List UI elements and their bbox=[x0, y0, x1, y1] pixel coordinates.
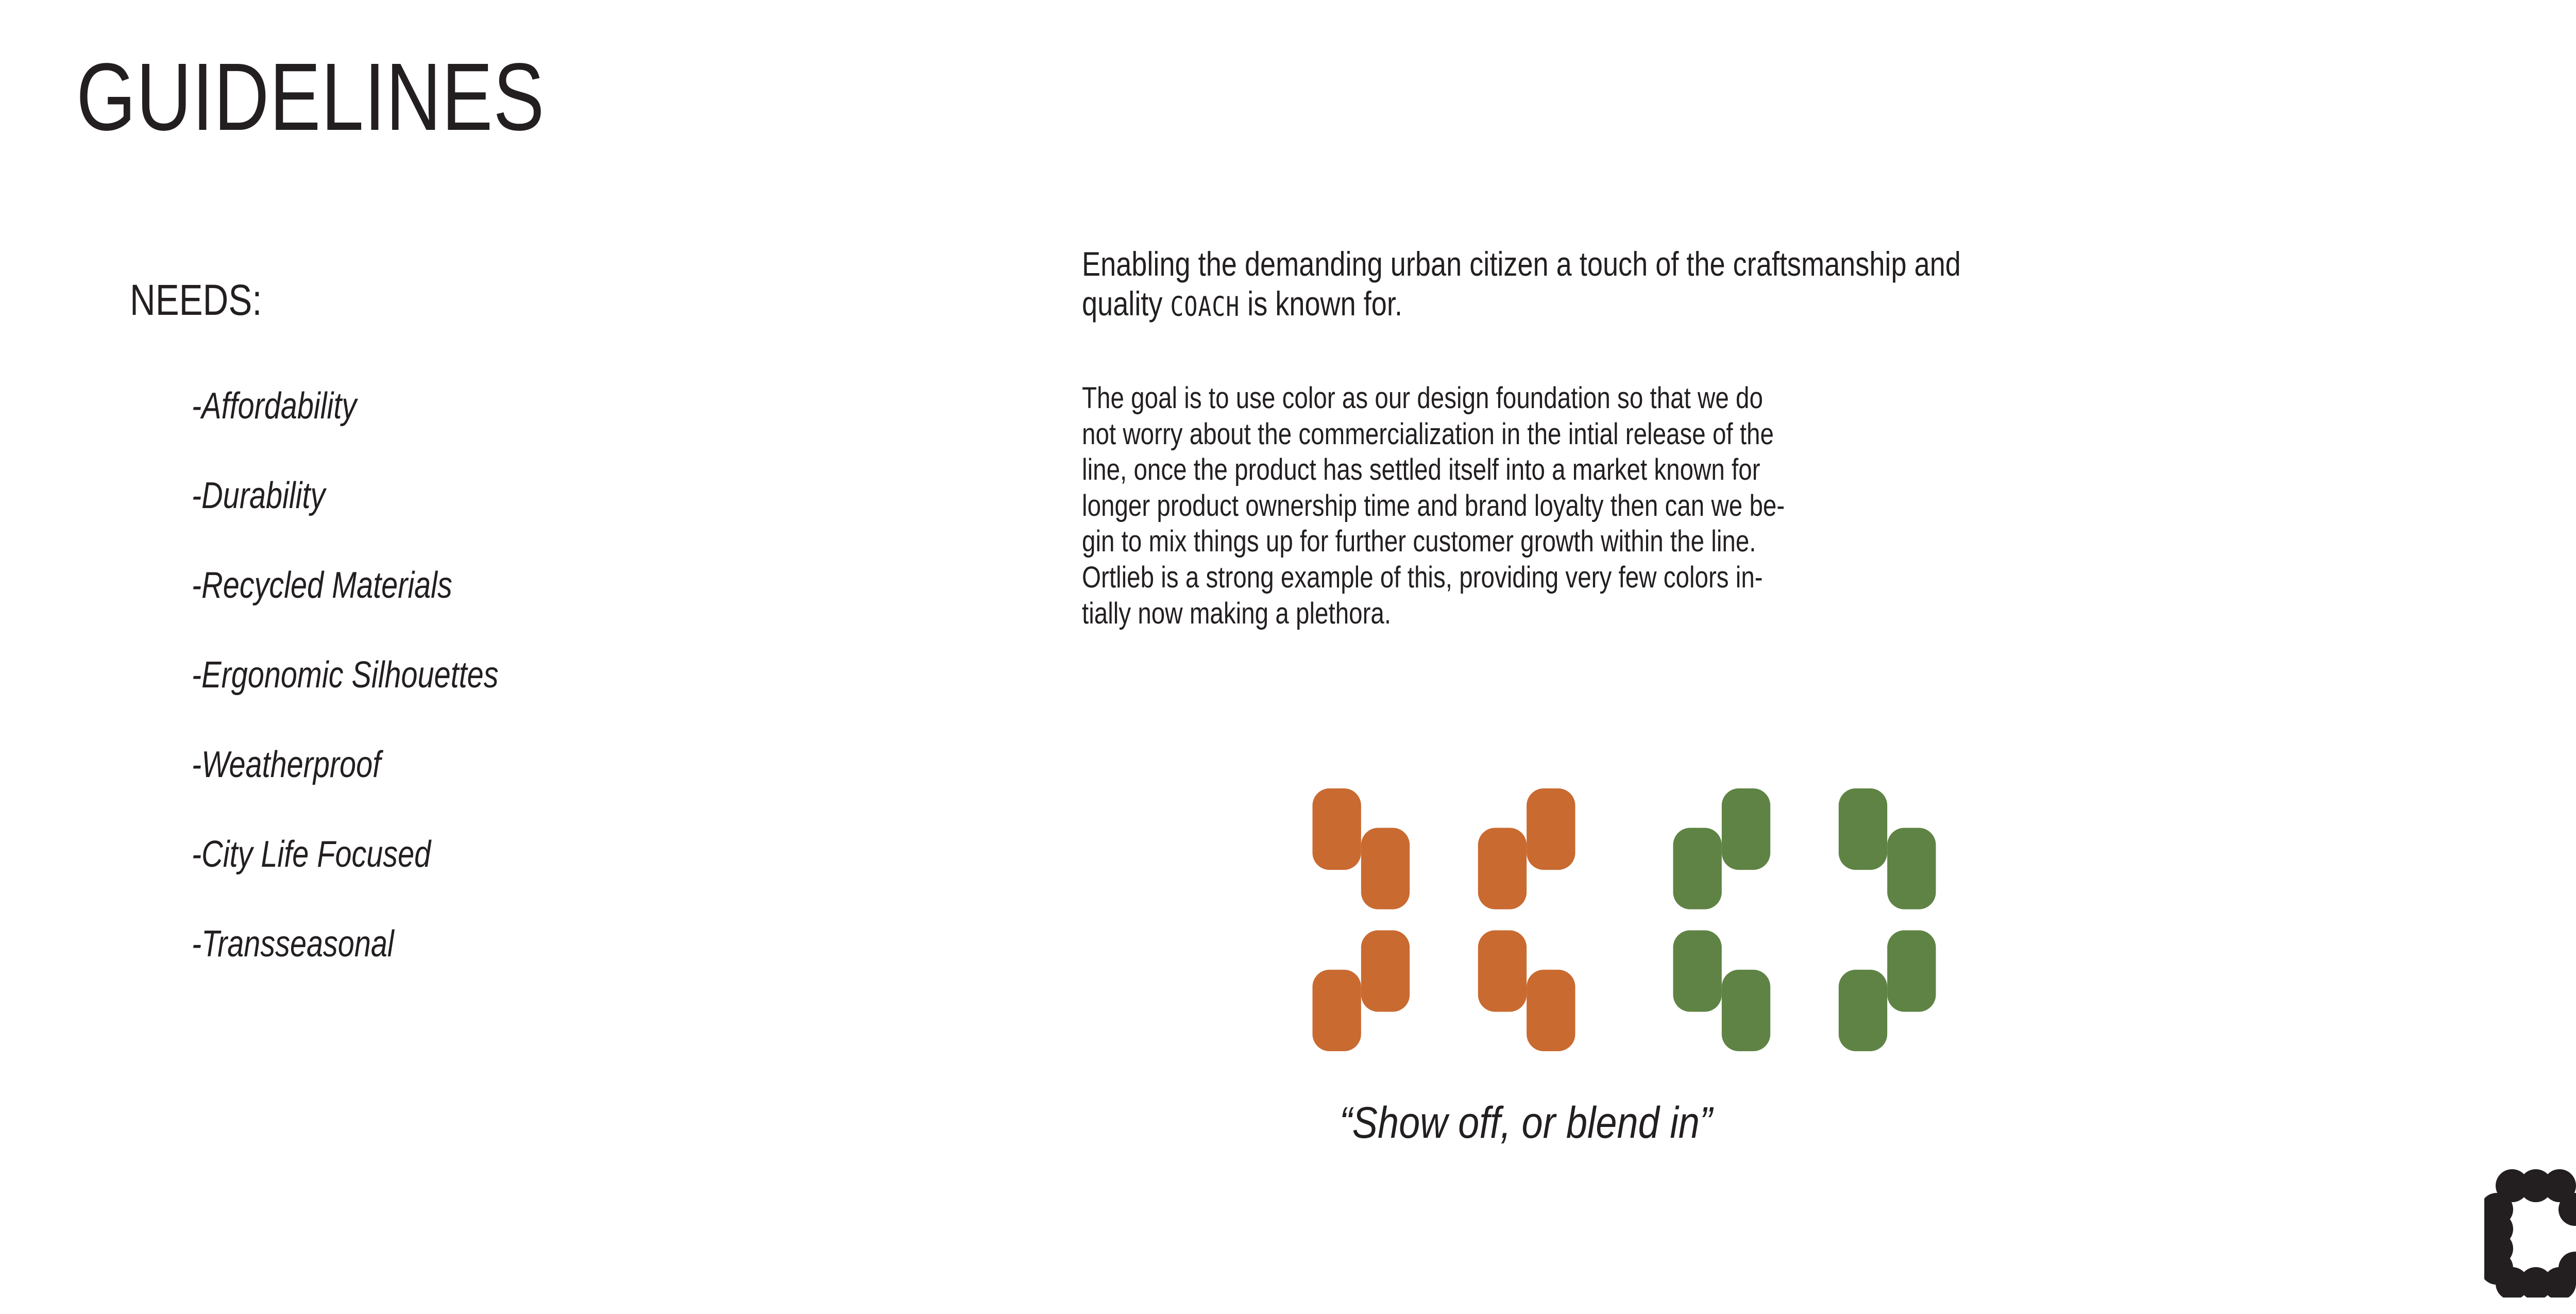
list-item: -Durability bbox=[192, 477, 769, 514]
page-title: GUIDELINES bbox=[76, 49, 545, 145]
body-line: longer product ownership time and brand … bbox=[1082, 488, 2058, 524]
logo-row bbox=[1311, 788, 1937, 1051]
blend-in-logo bbox=[1672, 788, 1937, 1051]
body-line: not worry about the commercialization in… bbox=[1082, 416, 2058, 452]
body-line: The goal is to use color as our design f… bbox=[1082, 380, 2058, 416]
logo-caption: “Show off, or blend in” bbox=[1340, 1101, 1713, 1145]
intro-text-after-brand: is known for. bbox=[1240, 284, 1402, 323]
needs-list: -Affordability -Durability -Recycled Mat… bbox=[192, 388, 913, 1015]
intro-paragraph: Enabling the demanding urban citizen a t… bbox=[1082, 244, 2037, 323]
list-item: -Transseasonal bbox=[192, 925, 769, 963]
body-line: Ortlieb is a strong example of this, pro… bbox=[1082, 560, 2058, 596]
list-item: -Affordability bbox=[192, 388, 769, 425]
list-item: -Ergonomic Silhouettes bbox=[192, 656, 769, 694]
coach-wordmark: COACH bbox=[1170, 291, 1240, 323]
coach-c-logo-icon bbox=[2484, 1169, 2576, 1298]
body-line: line, once the product has settled itsel… bbox=[1082, 452, 2058, 488]
list-item: -Weatherproof bbox=[192, 746, 769, 783]
body-paragraph: The goal is to use color as our design f… bbox=[1082, 380, 2058, 631]
show-off-logo bbox=[1311, 788, 1577, 1051]
body-line: tially now making a plethora. bbox=[1082, 596, 2058, 632]
body-line: gin to mix things up for further custome… bbox=[1082, 524, 2058, 560]
list-item: -Recycled Materials bbox=[192, 567, 769, 604]
needs-heading: NEEDS: bbox=[130, 278, 262, 322]
list-item: -City Life Focused bbox=[192, 836, 769, 873]
